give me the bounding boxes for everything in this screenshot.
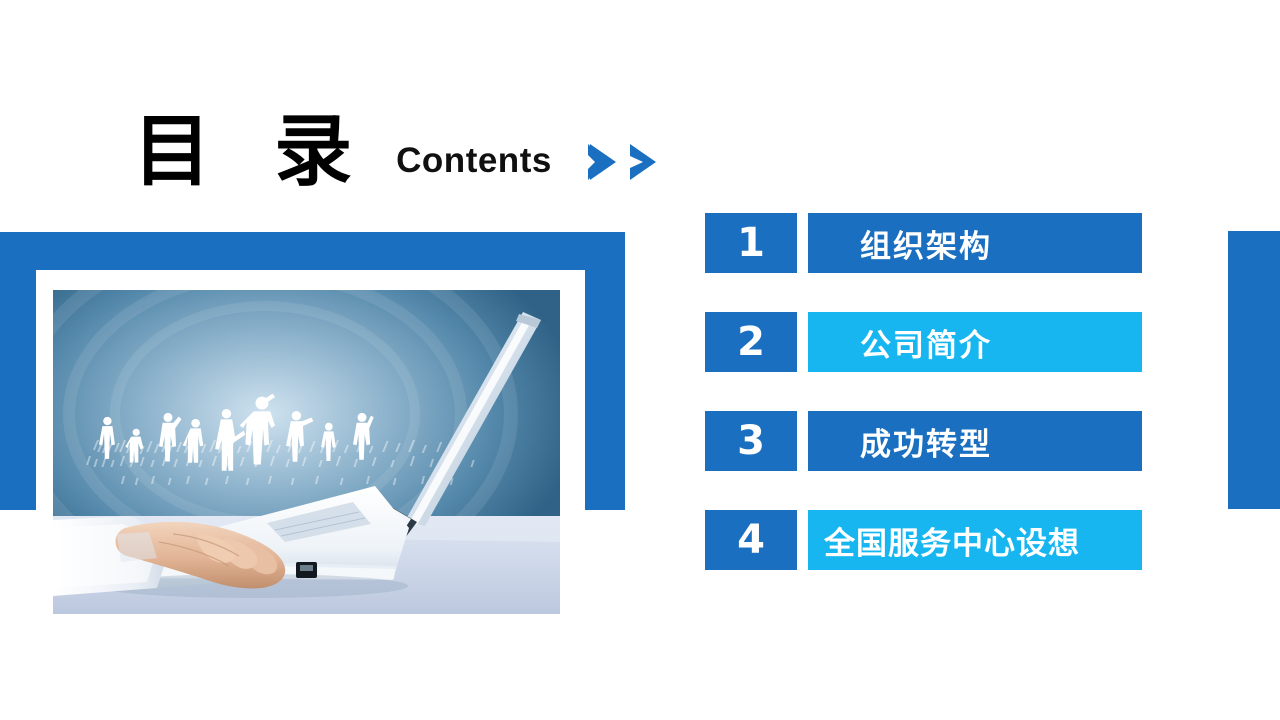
photo-frame-left-bar bbox=[0, 232, 36, 510]
title-english: Contents bbox=[396, 141, 552, 181]
double-chevron-right-icon bbox=[586, 142, 660, 182]
contents-item-number: 3 bbox=[705, 411, 797, 471]
photo-frame-right-bar bbox=[585, 232, 625, 510]
list-item[interactable]: 3 成功转型 bbox=[705, 411, 1142, 471]
laptop-business-photo bbox=[53, 290, 560, 614]
list-item[interactable]: 2 公司简介 bbox=[705, 312, 1142, 372]
list-item[interactable]: 4 全国服务中心设想 bbox=[705, 510, 1142, 570]
photo-frame-top-bar bbox=[0, 232, 625, 270]
contents-item-number: 2 bbox=[705, 312, 797, 372]
slide-canvas: 目 录 Contents bbox=[0, 0, 1280, 720]
page-title: 目 录 Contents bbox=[133, 110, 660, 194]
title-chinese: 目 录 bbox=[133, 110, 370, 194]
contents-list: 1 组织架构 2 公司简介 3 成功转型 4 全国服务中心设想 bbox=[705, 213, 1142, 570]
list-item[interactable]: 1 组织架构 bbox=[705, 213, 1142, 273]
contents-item-number: 4 bbox=[705, 510, 797, 570]
contents-item-number: 1 bbox=[705, 213, 797, 273]
contents-item-label[interactable]: 组织架构 bbox=[808, 213, 1142, 273]
right-accent-bar bbox=[1228, 231, 1280, 509]
contents-item-label[interactable]: 公司简介 bbox=[808, 312, 1142, 372]
contents-item-label[interactable]: 全国服务中心设想 bbox=[808, 510, 1142, 570]
contents-item-label[interactable]: 成功转型 bbox=[808, 411, 1142, 471]
